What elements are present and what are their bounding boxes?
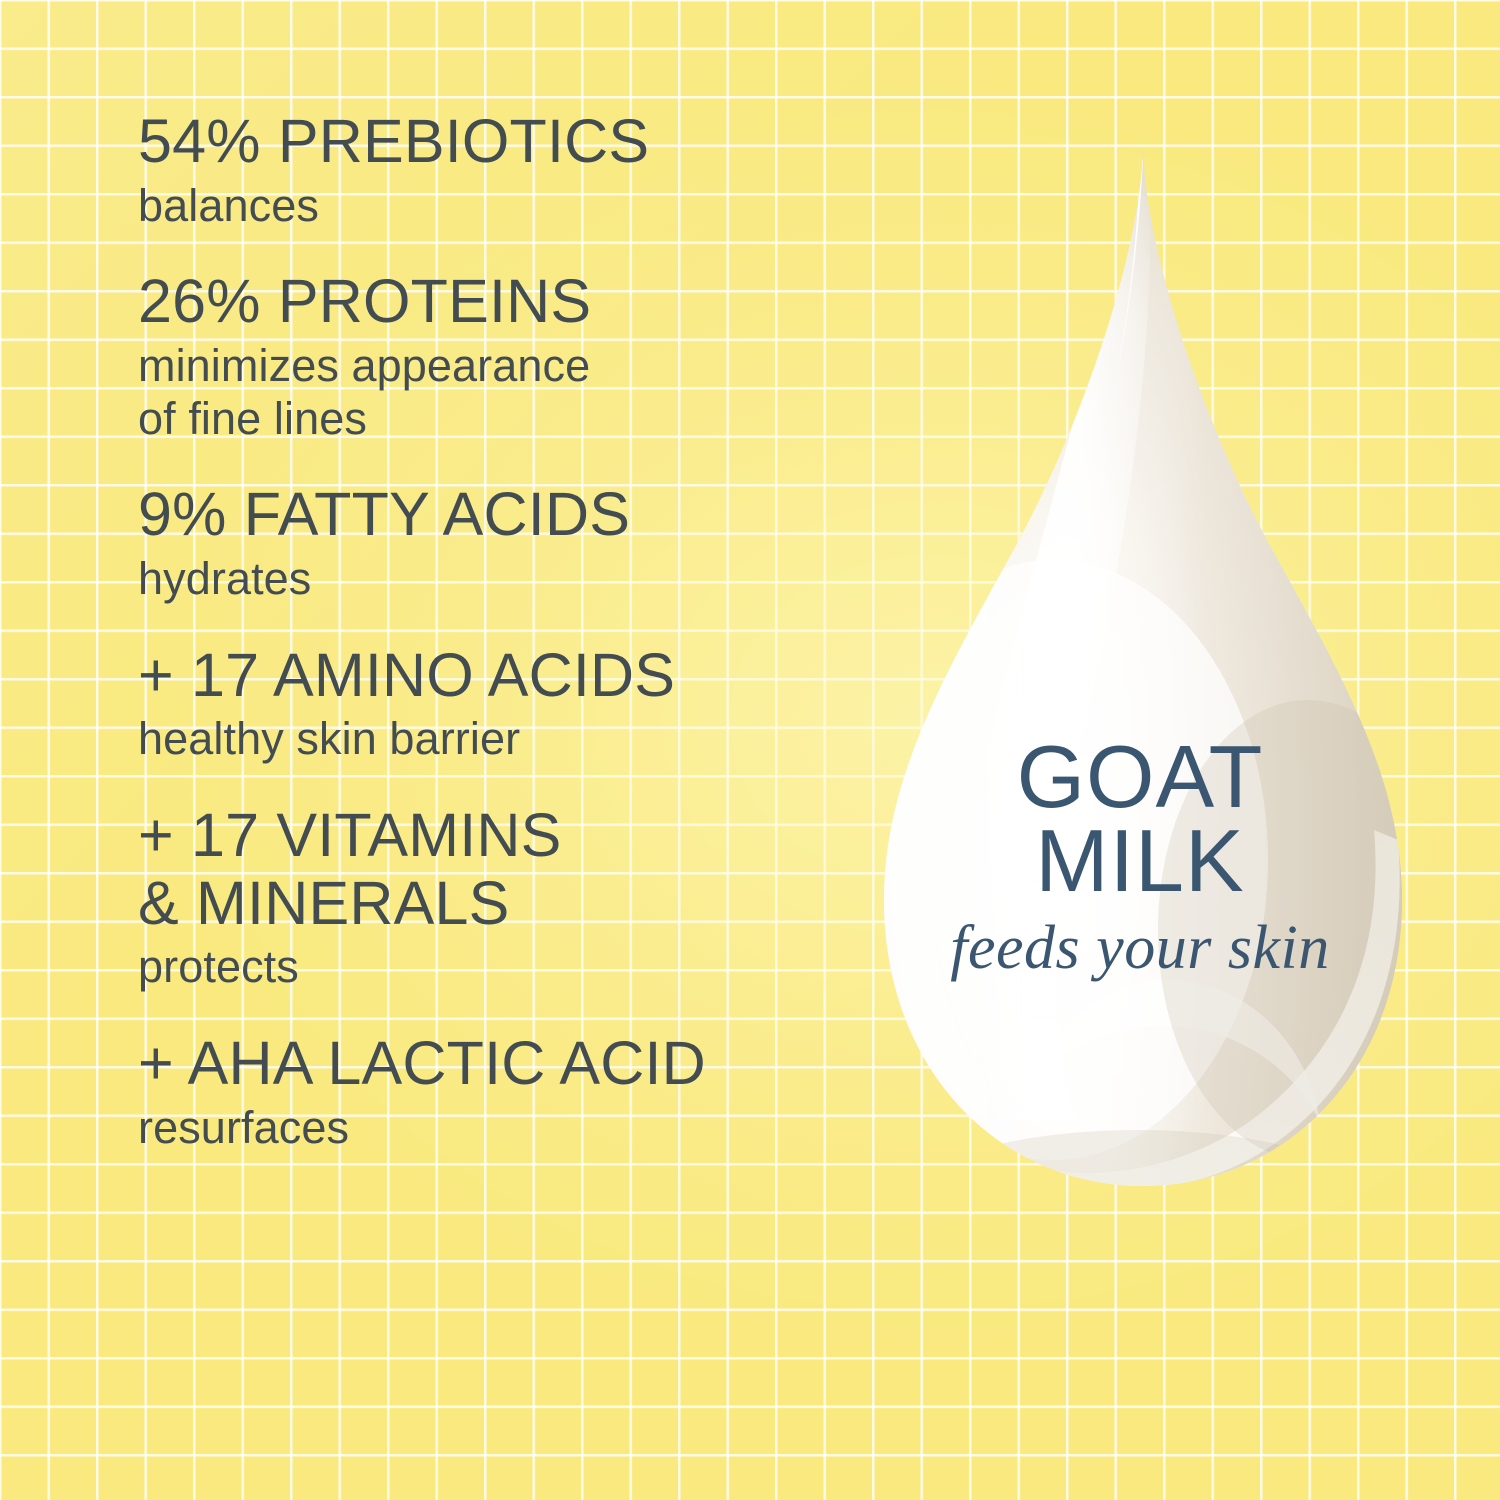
benefit-title: + 17 VITAMINS & MINERALS xyxy=(138,802,838,937)
benefit-title: + AHA LACTIC ACID xyxy=(138,1030,838,1098)
benefit-title: + 17 AMINO ACIDS xyxy=(138,642,838,710)
benefit-subtitle: resurfaces xyxy=(138,1102,838,1155)
benefit-subtitle: healthy skin barrier xyxy=(138,713,838,766)
droplet-icon xyxy=(838,140,1448,1210)
benefit-item-vitamins-minerals: + 17 VITAMINS & MINERALS protects xyxy=(138,802,838,994)
benefit-subtitle: hydrates xyxy=(138,553,838,606)
benefit-subtitle: protects xyxy=(138,941,838,994)
benefit-subtitle: minimizes appearance of fine lines xyxy=(138,340,838,445)
infographic-poster: 54% PREBIOTICS balances 26% PROTEINS min… xyxy=(0,0,1500,1500)
benefits-list: 54% PREBIOTICS balances 26% PROTEINS min… xyxy=(138,108,838,1154)
droplet-right-shadow xyxy=(1158,700,1448,1160)
benefit-title: 54% PREBIOTICS xyxy=(138,108,838,176)
benefit-title: 26% PROTEINS xyxy=(138,268,838,336)
milk-droplet-illustration xyxy=(838,140,1448,1210)
benefit-item-prebiotics: 54% PREBIOTICS balances xyxy=(138,108,838,232)
benefit-item-proteins: 26% PROTEINS minimizes appearance of fin… xyxy=(138,268,838,445)
benefit-item-aha-lactic-acid: + AHA LACTIC ACID resurfaces xyxy=(138,1030,838,1154)
benefit-item-amino-acids: + 17 AMINO ACIDS healthy skin barrier xyxy=(138,642,838,766)
benefit-item-fatty-acids: 9% FATTY ACIDS hydrates xyxy=(138,481,838,605)
benefit-title: 9% FATTY ACIDS xyxy=(138,481,838,549)
droplet-bottom-shading xyxy=(908,1130,1368,1210)
benefit-subtitle: balances xyxy=(138,180,838,233)
